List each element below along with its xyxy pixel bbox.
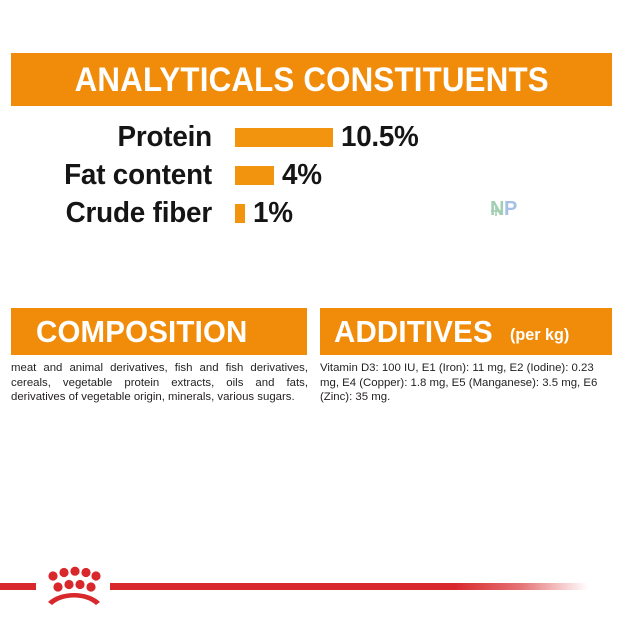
nutrient-bar-wrap: 1% <box>235 199 294 228</box>
nutrient-bar-fat-content <box>235 166 274 185</box>
brand-rule-left <box>0 583 36 590</box>
nutrient-row: Crude fiber 1% <box>0 194 640 232</box>
additives-header: ADDITIVES (per kg) <box>320 308 612 355</box>
svg-text:N: N <box>490 198 504 220</box>
nutrient-bar-wrap: 10.5% <box>235 123 422 152</box>
nutrient-value-protein: 10.5% <box>341 123 419 152</box>
nutrient-bar-protein <box>235 128 333 147</box>
nutrient-bar-wrap: 4% <box>235 161 323 190</box>
nutrient-bar-crude-fiber <box>235 204 245 223</box>
composition-body-text: meat and animal derivatives, fish and fi… <box>11 361 308 405</box>
np-watermark-logo: N P <box>490 196 536 222</box>
brand-strip <box>0 560 640 612</box>
additives-body-text: Vitamin D3: 100 IU, E1 (Iron): 11 mg, E2… <box>320 361 612 405</box>
nutrient-row: Protein 10.5% <box>0 118 640 156</box>
additives-header-subtitle: (per kg) <box>510 326 569 343</box>
svg-text:P: P <box>504 198 517 220</box>
analyticals-header-title: ANALYTICALS CONSTITUENTS <box>74 63 548 97</box>
additives-header-title: ADDITIVES <box>334 316 493 347</box>
analyticals-rows-list: Protein 10.5% Fat content 4% Crude fiber… <box>0 118 640 232</box>
brand-rule-right <box>110 583 588 590</box>
nutrient-row: Fat content 4% <box>0 156 640 194</box>
nutrient-value-crude-fiber: 1% <box>253 199 293 228</box>
royal-canin-crown-logo <box>40 562 106 608</box>
nutrient-label-protein: Protein <box>8 123 212 152</box>
nutrient-label-crude-fiber: Crude fiber <box>8 199 212 228</box>
nutrient-value-fat-content: 4% <box>282 161 322 190</box>
composition-header: COMPOSITION <box>11 308 307 355</box>
analyticals-constituents-header: ANALYTICALS CONSTITUENTS <box>11 53 612 106</box>
composition-header-title: COMPOSITION <box>36 316 248 347</box>
nutrient-label-fat-content: Fat content <box>8 161 212 190</box>
